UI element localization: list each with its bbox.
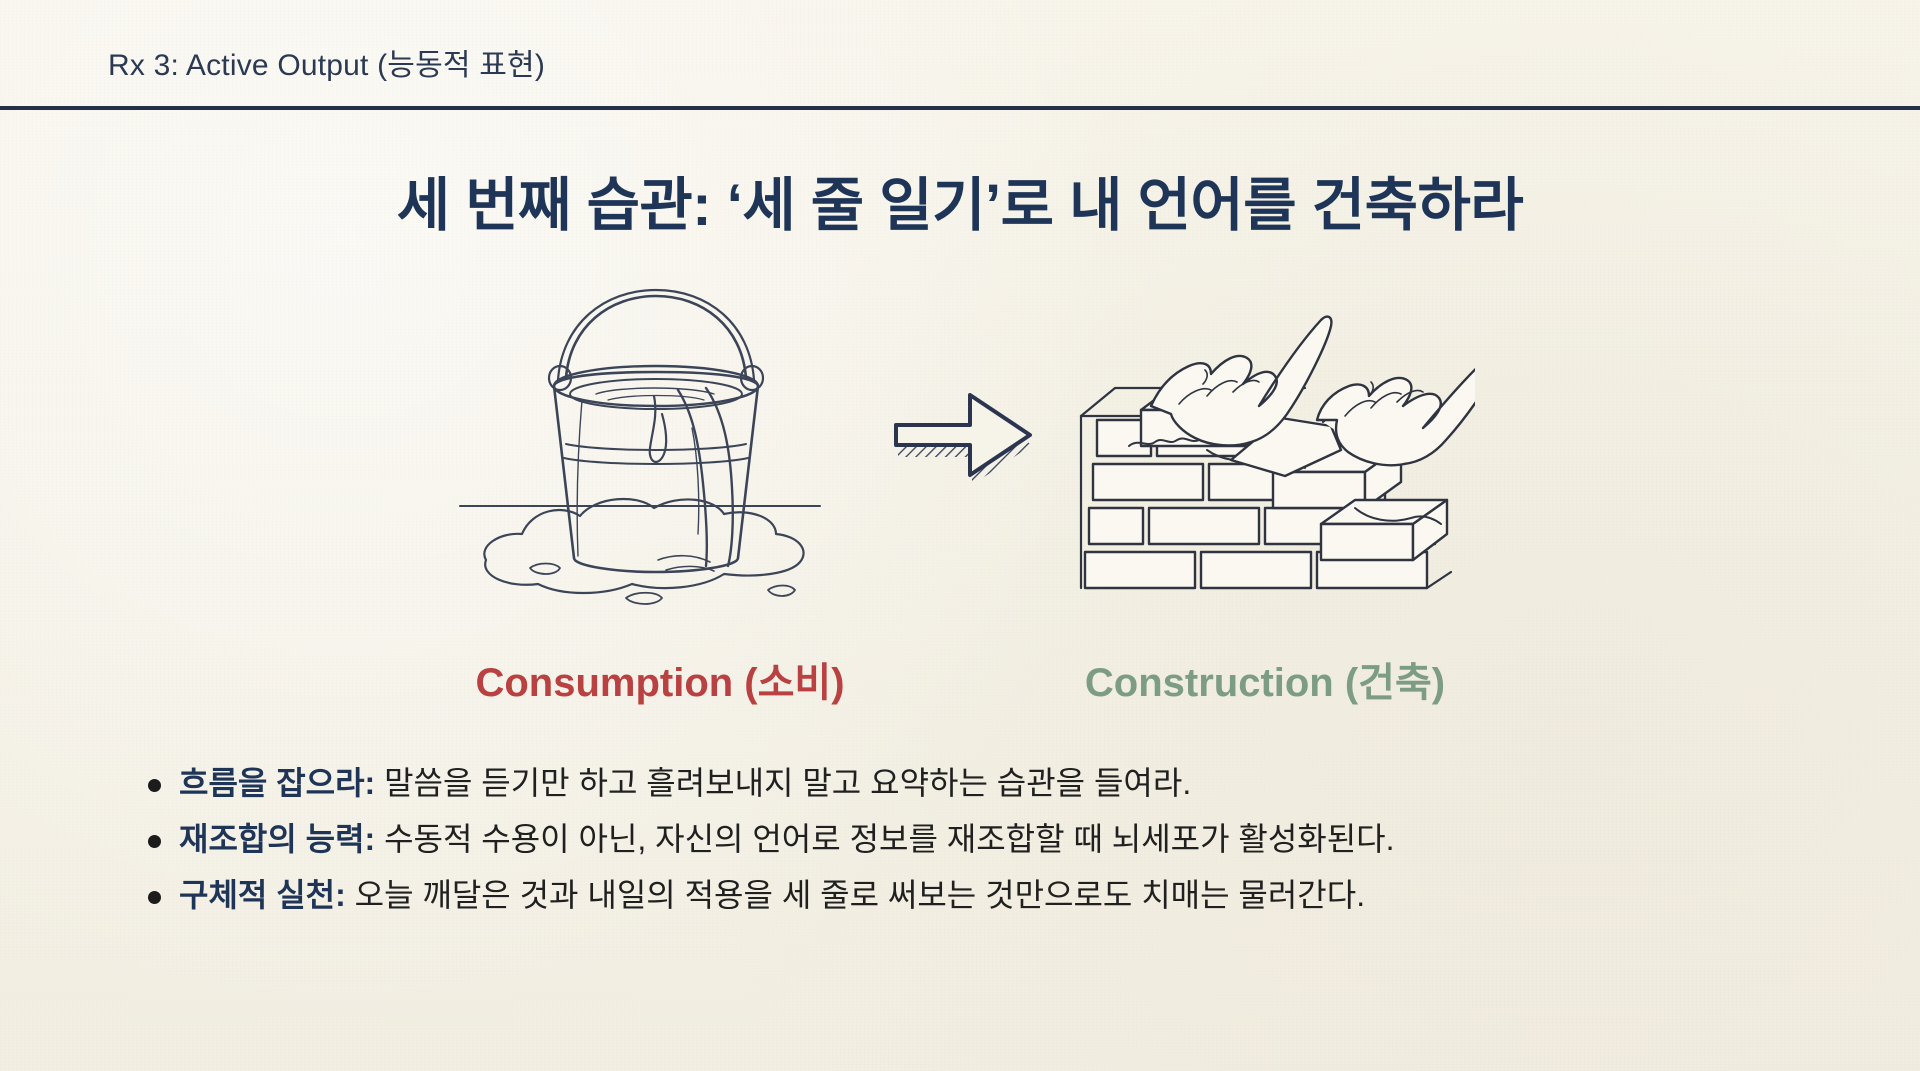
bullet-text: 흐름을 잡으라: 말씀을 듣기만 하고 흘려보내지 말고 요약하는 습관을 들여…: [179, 762, 1191, 804]
caption-construction: Construction (건축): [1055, 650, 1475, 708]
list-item: 흐름을 잡으라: 말씀을 듣기만 하고 흘려보내지 말고 요약하는 습관을 들여…: [148, 762, 1840, 804]
bullet-body: 오늘 깨달은 것과 내일의 적용을 세 줄로 써보는 것만으로도 치매는 물러간…: [346, 877, 1365, 913]
header-title: Rx 3: Active Output (능동적 표현): [108, 40, 545, 84]
caption-consumption: Consumption (소비): [450, 650, 870, 708]
leaking-bucket-illustration: [430, 268, 850, 618]
header-divider: [0, 106, 1920, 110]
bullet-text: 구체적 실천: 오늘 깨달은 것과 내일의 적용을 세 줄로 써보는 것만으로도…: [179, 874, 1365, 916]
right-arrow-icon: [880, 383, 1050, 503]
bullet-dot-icon: [148, 835, 161, 848]
bullet-label: 흐름을 잡으라:: [179, 765, 375, 801]
caption-row: Consumption (소비) Construction (건축): [0, 650, 1920, 710]
bullet-dot-icon: [148, 779, 161, 792]
list-item: 재조합의 능력: 수동적 수용이 아닌, 자신의 언어로 정보를 재조합할 때 …: [148, 818, 1840, 860]
bullet-label: 재조합의 능력:: [179, 821, 375, 857]
list-item: 구체적 실천: 오늘 깨달은 것과 내일의 적용을 세 줄로 써보는 것만으로도…: [148, 874, 1840, 916]
bullet-list: 흐름을 잡으라: 말씀을 듣기만 하고 흘려보내지 말고 요약하는 습관을 들여…: [148, 762, 1840, 931]
bullet-text: 재조합의 능력: 수동적 수용이 아닌, 자신의 언어로 정보를 재조합할 때 …: [179, 818, 1395, 860]
bullet-body: 말씀을 듣기만 하고 흘려보내지 말고 요약하는 습관을 들여라.: [375, 765, 1191, 801]
bullet-label: 구체적 실천:: [179, 877, 346, 913]
bricklaying-hands-illustration: [1055, 270, 1475, 620]
bullet-body: 수동적 수용이 아닌, 자신의 언어로 정보를 재조합할 때 뇌세포가 활성화된…: [375, 821, 1394, 857]
slide-header: Rx 3: Active Output (능동적 표현): [0, 0, 1920, 108]
page-title: 세 번째 습관: ‘세 줄 일기’로 내 언어를 건축하라: [0, 158, 1920, 242]
illustration-band: [0, 268, 1920, 618]
bullet-dot-icon: [148, 891, 161, 904]
